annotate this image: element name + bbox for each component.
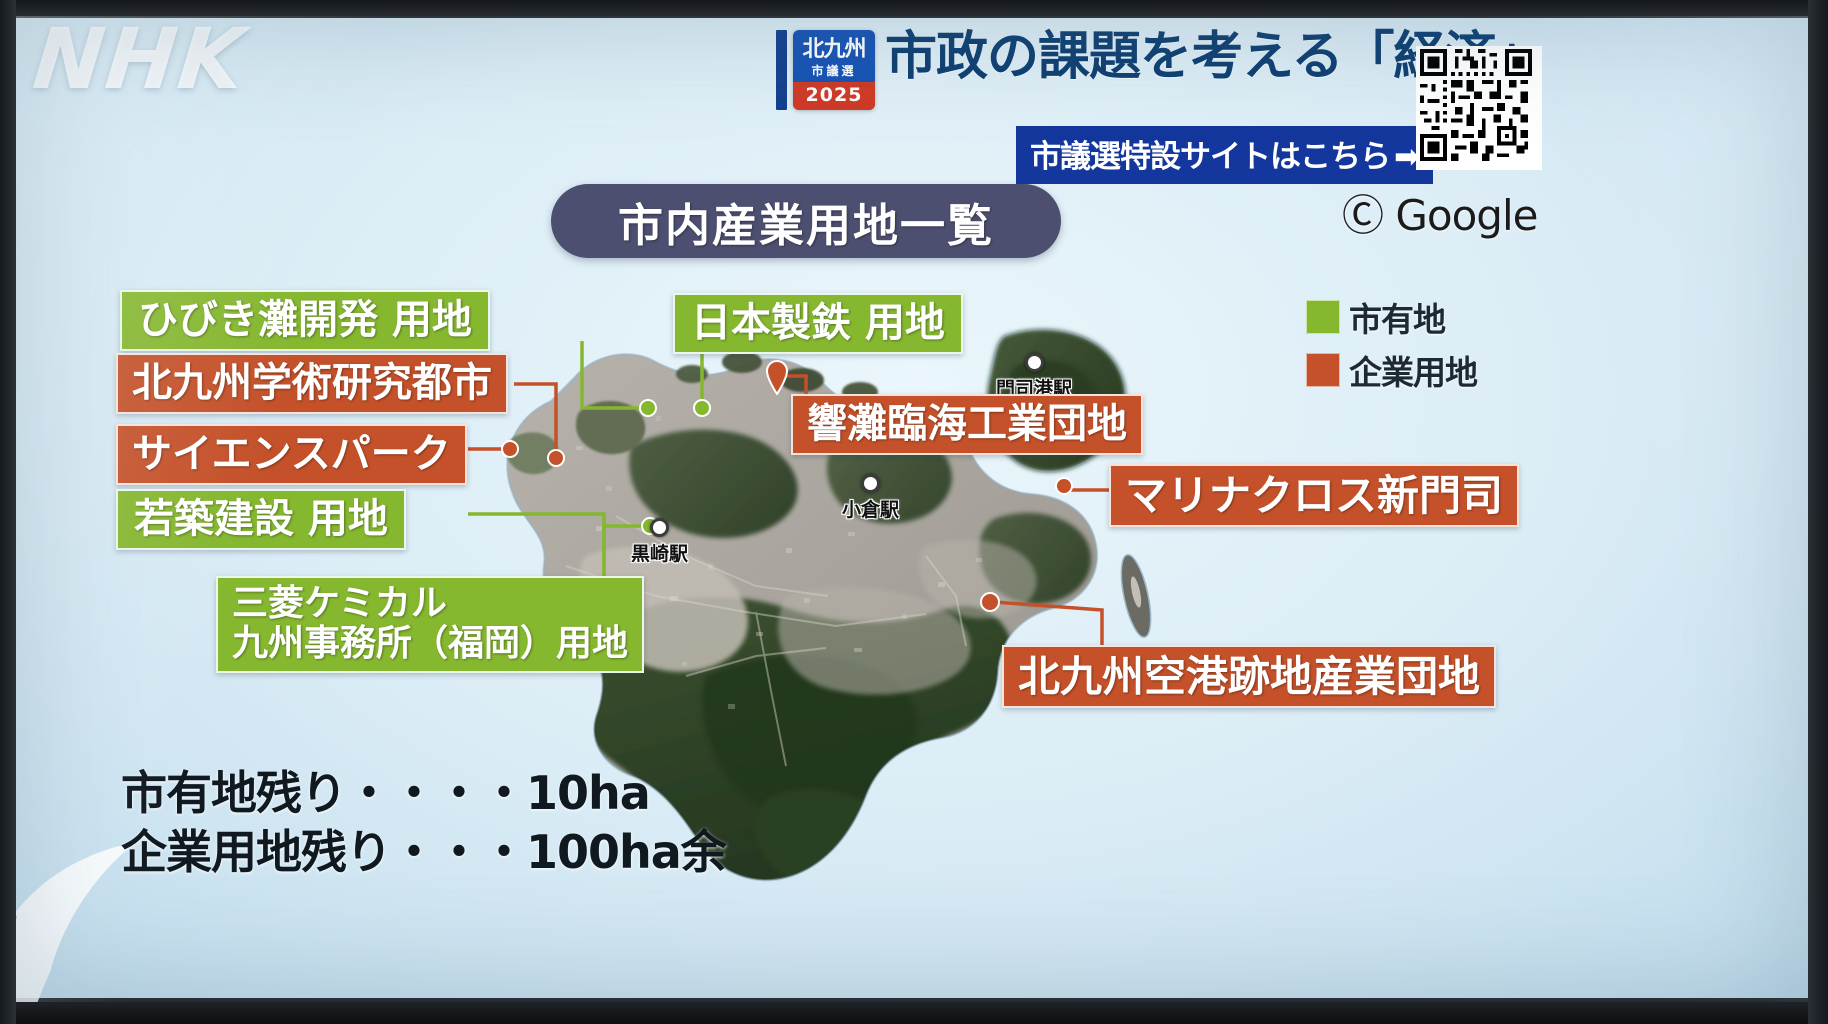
- legend-label-corporate-land: 企業用地: [1349, 346, 1477, 394]
- label-hibikinada-kaihatsu-text: ひびき灘開発 用地: [138, 298, 472, 343]
- broadcast-picture: NHK 北九州 市議選 2025 市政の課題を考える「経済」 市議選特設サイトは…: [16, 16, 1808, 1002]
- special-site-banner: 市議選特設サイトはこちら➡: [1016, 126, 1433, 184]
- label-science-park-text: サイエンスパーク: [132, 432, 451, 477]
- station-marker-kurosaki[interactable]: 黒崎駅: [631, 518, 688, 566]
- legend-item-corporate-land: 企業用地: [1306, 346, 1477, 394]
- label-mitsubishi-chemical[interactable]: 三菱ケミカル 九州事務所（福岡）用地: [216, 576, 644, 673]
- station-dot-icon: [650, 518, 669, 537]
- label-mitsubishi-chemical-line1: 三菱ケミカル: [232, 584, 628, 624]
- nhk-watermark: NHK: [29, 16, 251, 108]
- legend-swatch-city-icon: [1306, 300, 1340, 334]
- legend: 市有地 企業用地: [1306, 293, 1477, 399]
- label-marina-cross[interactable]: マリナクロス新門司: [1109, 464, 1519, 527]
- stat-corporate-land-remaining: 企業用地残り・・・100ha余: [121, 823, 726, 882]
- stat-city-land-remaining: 市有地残り・・・・10ha: [121, 764, 726, 823]
- label-hibikinada-rinkai-text: 響灘臨海工業団地: [807, 402, 1127, 447]
- qr-code-icon[interactable]: [1416, 46, 1542, 170]
- legend-swatch-corp-icon: [1306, 353, 1340, 387]
- bezel-left: [0, 0, 16, 1024]
- map-pin-icon: [764, 359, 790, 395]
- badge-line2: 市議選: [811, 65, 856, 77]
- station-name-kurosaki: 黒崎駅: [631, 539, 688, 566]
- header-accent-bar: [776, 30, 787, 110]
- label-marina-cross-text: マリナクロス新門司: [1125, 472, 1503, 519]
- label-wakachiku-kensetsu-text: 若築建設 用地: [134, 497, 388, 542]
- label-hibikinada-kaihatsu[interactable]: ひびき灘開発 用地: [120, 290, 490, 351]
- label-airport-industrial-park-text: 北九州空港跡地産業団地: [1018, 653, 1480, 700]
- page-title: 市内産業用地一覧: [551, 184, 1061, 258]
- station-dot-icon: [1025, 353, 1044, 372]
- label-hibikinada-rinkai[interactable]: 響灘臨海工業団地: [791, 394, 1143, 455]
- station-name-kokura: 小倉駅: [842, 495, 899, 522]
- legend-item-city-land: 市有地: [1306, 293, 1477, 341]
- label-gakujutsu-kenkyu-toshi-text: 北九州学術研究都市: [132, 361, 492, 406]
- station-dot-icon: [861, 474, 880, 493]
- label-science-park[interactable]: サイエンスパーク: [116, 424, 467, 485]
- label-wakachiku-kensetsu[interactable]: 若築建設 用地: [116, 489, 406, 550]
- label-nippon-steel-text: 日本製鉄 用地: [691, 301, 945, 346]
- bezel-right: [1808, 0, 1828, 1024]
- label-airport-industrial-park[interactable]: 北九州空港跡地産業団地: [1002, 645, 1496, 708]
- map-credit: Ⓒ Google: [1342, 182, 1537, 243]
- election-badge: 北九州 市議選 2025: [793, 30, 875, 110]
- badge-line1: 北九州: [802, 39, 865, 61]
- summary-stats: 市有地残り・・・・10ha 企業用地残り・・・100ha余: [121, 764, 726, 882]
- site-banner-text: 市議選特設サイトはこちら: [1030, 139, 1390, 175]
- tv-screen: NHK 北九州 市議選 2025 市政の課題を考える「経済」 市議選特設サイトは…: [0, 0, 1828, 1024]
- label-gakujutsu-kenkyu-toshi[interactable]: 北九州学術研究都市: [116, 353, 508, 414]
- label-mitsubishi-chemical-line2: 九州事務所（福岡）用地: [232, 624, 628, 664]
- label-nippon-steel[interactable]: 日本製鉄 用地: [673, 293, 963, 354]
- legend-label-city-land: 市有地: [1349, 293, 1445, 341]
- station-marker-kokura[interactable]: 小倉駅: [842, 474, 899, 522]
- badge-year: 2025: [793, 82, 875, 110]
- page-title-text: 市内産業用地一覧: [618, 189, 994, 254]
